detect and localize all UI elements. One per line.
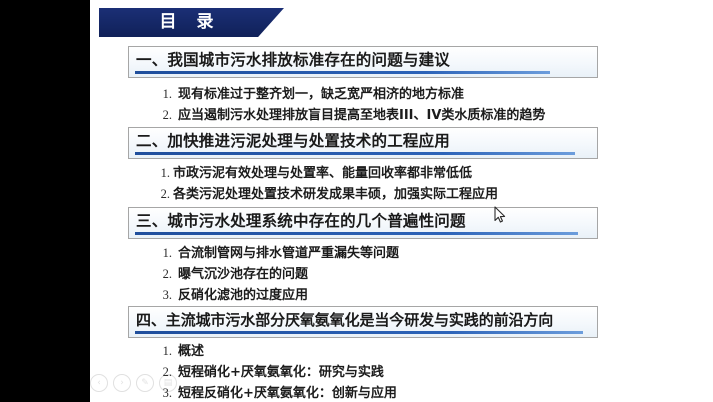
- list-item: 1. 市政污泥有效处理与处置率、能量回收率都非常低低: [152, 163, 652, 184]
- letterbox-bar-left: [0, 0, 90, 402]
- section-heading-3[interactable]: 三、城市污水处理系统中存在的几个普遍性问题: [128, 207, 598, 239]
- list-item: 2. 曝气沉沙池存在的问题: [152, 264, 652, 285]
- slideshow-controls[interactable]: ‹ › ✎ ▤: [90, 374, 177, 392]
- section-heading-2-text: 二、加快推进污泥处理与处置技术的工程应用: [136, 131, 450, 151]
- pen-tool-icon[interactable]: ✎: [136, 374, 154, 392]
- section-3-bullet-list: 1. 合流制管网与排水管道严重漏失等问题 2. 曝气沉沙池存在的问题 3. 反硝…: [152, 243, 652, 306]
- list-item: 1. 合流制管网与排水管道严重漏失等问题: [152, 243, 652, 264]
- list-item-text: 短程硝化+厌氧氨氧化：研究与实践: [178, 362, 384, 383]
- list-item-text: 各类污泥处理处置技术研发成果丰硕，加强实际工程应用: [173, 184, 498, 205]
- section-heading-4-underline: [135, 331, 583, 334]
- section-heading-2[interactable]: 二、加快推进污泥处理与处置技术的工程应用: [128, 127, 598, 159]
- list-item-text: 曝气沉沙池存在的问题: [178, 264, 308, 285]
- section-2-bullet-list: 1. 市政污泥有效处理与处置率、能量回收率都非常低低 2. 各类污泥处理处置技术…: [152, 163, 652, 205]
- list-item: 2. 应当遏制污水处理排放盲目提高至地表III、IV类水质标准的趋势: [152, 105, 652, 126]
- slide-title-text: 目 录: [153, 14, 221, 31]
- list-item-text: 短程反硝化+厌氧氨氧化：创新与应用: [178, 383, 397, 402]
- list-item-text: 应当遏制污水处理排放盲目提高至地表III、IV类水质标准的趋势: [178, 105, 545, 126]
- list-item: 3. 短程反硝化+厌氧氨氧化：创新与应用: [152, 383, 652, 402]
- list-item-text: 合流制管网与排水管道严重漏失等问题: [178, 243, 399, 264]
- section-1-bullet-list: 1. 现有标准过于整齐划一，缺乏宽严相济的地方标准 2. 应当遏制污水处理排放盲…: [152, 84, 652, 126]
- section-heading-3-text: 三、城市污水处理系统中存在的几个普遍性问题: [136, 211, 466, 231]
- list-item-number: 1.: [152, 246, 172, 261]
- list-item: 3. 反硝化滤池的过度应用: [152, 285, 652, 306]
- slide-canvas: 目 录 一、我国城市污水排放标准存在的问题与建议 1. 现有标准过于整齐划一，缺…: [90, 0, 713, 402]
- section-heading-1-underline: [135, 71, 550, 74]
- list-item-number: 1.: [152, 166, 170, 181]
- list-item-text: 市政污泥有效处理与处置率、能量回收率都非常低低: [173, 163, 472, 184]
- list-item: 2. 短程硝化+厌氧氨氧化：研究与实践: [152, 362, 652, 383]
- section-heading-1-text: 一、我国城市污水排放标准存在的问题与建议: [136, 50, 450, 70]
- section-4-bullet-list: 1. 概述 2. 短程硝化+厌氧氨氧化：研究与实践 3. 短程反硝化+厌氧氨氧化…: [152, 341, 652, 402]
- list-item: 1. 现有标准过于整齐划一，缺乏宽严相济的地方标准: [152, 84, 652, 105]
- section-heading-1[interactable]: 一、我国城市污水排放标准存在的问题与建议: [128, 46, 598, 78]
- list-item-number: 2.: [152, 267, 172, 282]
- section-heading-4[interactable]: 四、主流城市污水部分厌氧氨氧化是当今研发与实践的前沿方向: [128, 306, 598, 338]
- list-item: 2. 各类污泥处理处置技术研发成果丰硕，加强实际工程应用: [152, 184, 652, 205]
- section-heading-2-underline: [135, 152, 575, 155]
- presentation-screen: 目 录 一、我国城市污水排放标准存在的问题与建议 1. 现有标准过于整齐划一，缺…: [0, 0, 713, 402]
- list-item-number: 2.: [152, 187, 170, 202]
- next-slide-icon[interactable]: ›: [113, 374, 131, 392]
- list-item-number: 3.: [152, 288, 172, 303]
- list-item-text: 现有标准过于整齐划一，缺乏宽严相济的地方标准: [178, 84, 464, 105]
- list-item-number: 2.: [152, 108, 172, 123]
- slide-title-banner: 目 录: [99, 8, 284, 37]
- section-heading-3-underline: [135, 232, 578, 235]
- list-item-number: 1.: [152, 87, 172, 102]
- list-item-text: 反硝化滤池的过度应用: [178, 285, 308, 306]
- list-item-text: 概述: [178, 341, 204, 362]
- previous-slide-icon[interactable]: ‹: [90, 374, 108, 392]
- slideshow-menu-icon[interactable]: ▤: [159, 374, 177, 392]
- section-heading-4-text: 四、主流城市污水部分厌氧氨氧化是当今研发与实践的前沿方向: [136, 310, 553, 330]
- list-item-number: 1.: [152, 344, 172, 359]
- list-item: 1. 概述: [152, 341, 652, 362]
